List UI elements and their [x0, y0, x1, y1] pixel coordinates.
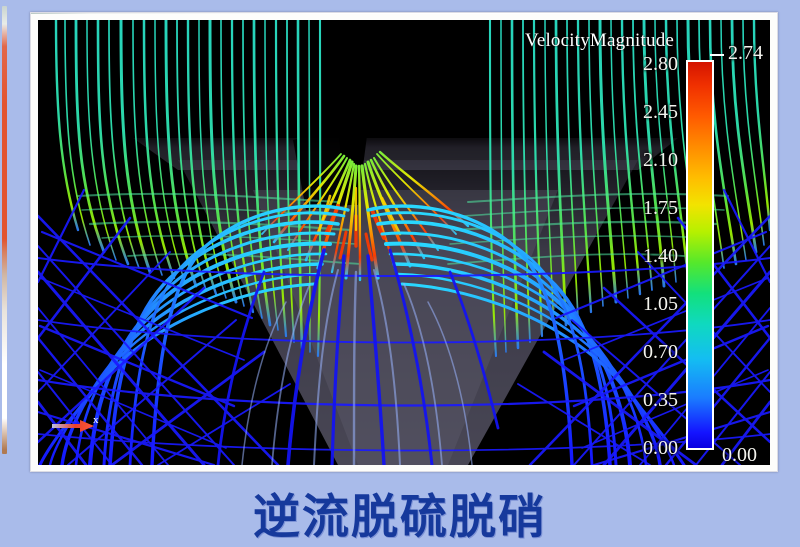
scalar-bar-max-tick [710, 54, 724, 56]
scalar-bar-title: VelocityMagnitude [525, 30, 674, 52]
scalar-bar-tick-labels: 2.80 2.45 2.10 1.75 1.40 1.05 0.70 0.35 … [598, 54, 678, 454]
scalar-bar-range-max: 2.74 [728, 42, 763, 65]
scalar-tick-2-45: 2.45 [643, 102, 678, 122]
frame-hairline [30, 12, 778, 14]
scalar-tick-1-75: 1.75 [643, 198, 678, 218]
cfd-viewport[interactable]: x VelocityMagnitude 2.80 2.45 2.10 1.75 … [38, 20, 770, 465]
scalar-tick-0-35: 0.35 [643, 390, 678, 410]
scalar-tick-1-40: 1.40 [643, 246, 678, 266]
axis-orientation-widget: x [50, 410, 108, 444]
axis-x-label: x [93, 414, 99, 426]
scalar-bar-gradient[interactable] [686, 60, 714, 450]
scalar-tick-0-00: 0.00 [643, 438, 678, 458]
scalar-tick-0-70: 0.70 [643, 342, 678, 362]
scalar-tick-2-10: 2.10 [643, 150, 678, 170]
slide-caption: 逆流脱硫脱硝 [0, 478, 800, 547]
scalar-tick-1-05: 1.05 [643, 294, 678, 314]
slide-root: x VelocityMagnitude 2.80 2.45 2.10 1.75 … [0, 0, 800, 542]
scalar-bar-range-min: 0.00 [722, 444, 757, 465]
left-scroll-strip[interactable] [2, 6, 7, 454]
scalar-tick-2-80: 2.80 [643, 54, 678, 74]
